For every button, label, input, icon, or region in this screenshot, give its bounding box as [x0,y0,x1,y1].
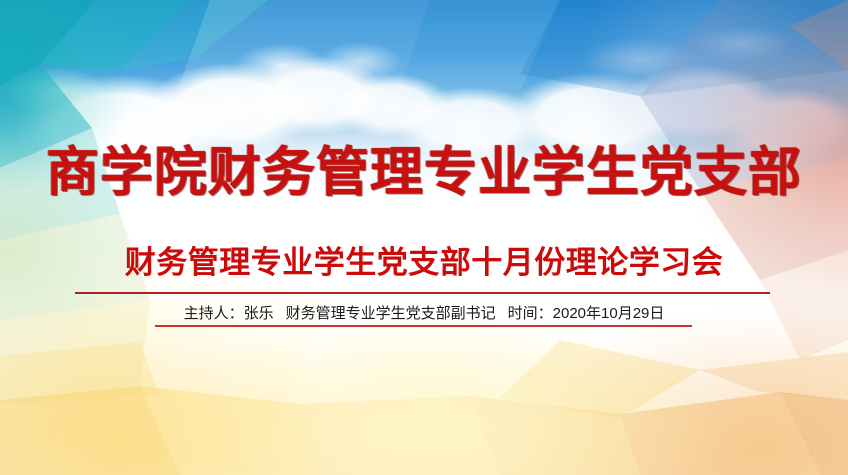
host-role: 财务管理专业学生党支部副书记 [286,305,496,322]
presenter-meta-line: 主持人：张乐财务管理专业学生党支部副书记时间：2020年10月29日 [0,303,848,324]
slide-subtitle: 财务管理专业学生党支部十月份理论学习会 [0,243,848,283]
host-label: 主持人： [184,305,244,322]
time-value: 2020年10月29日 [553,305,665,322]
divider-rule-bottom [155,325,692,327]
title-slide: 商学院财务管理专业学生党支部 财务管理专业学生党支部十月份理论学习会 主持人：张… [0,0,848,475]
page-title: 商学院财务管理专业学生党支部 [0,141,848,203]
divider-rule-top [75,292,770,294]
time-label: 时间： [508,305,553,322]
slide-content: 商学院财务管理专业学生党支部 财务管理专业学生党支部十月份理论学习会 主持人：张… [0,0,848,475]
host-name: 张乐 [244,305,274,322]
